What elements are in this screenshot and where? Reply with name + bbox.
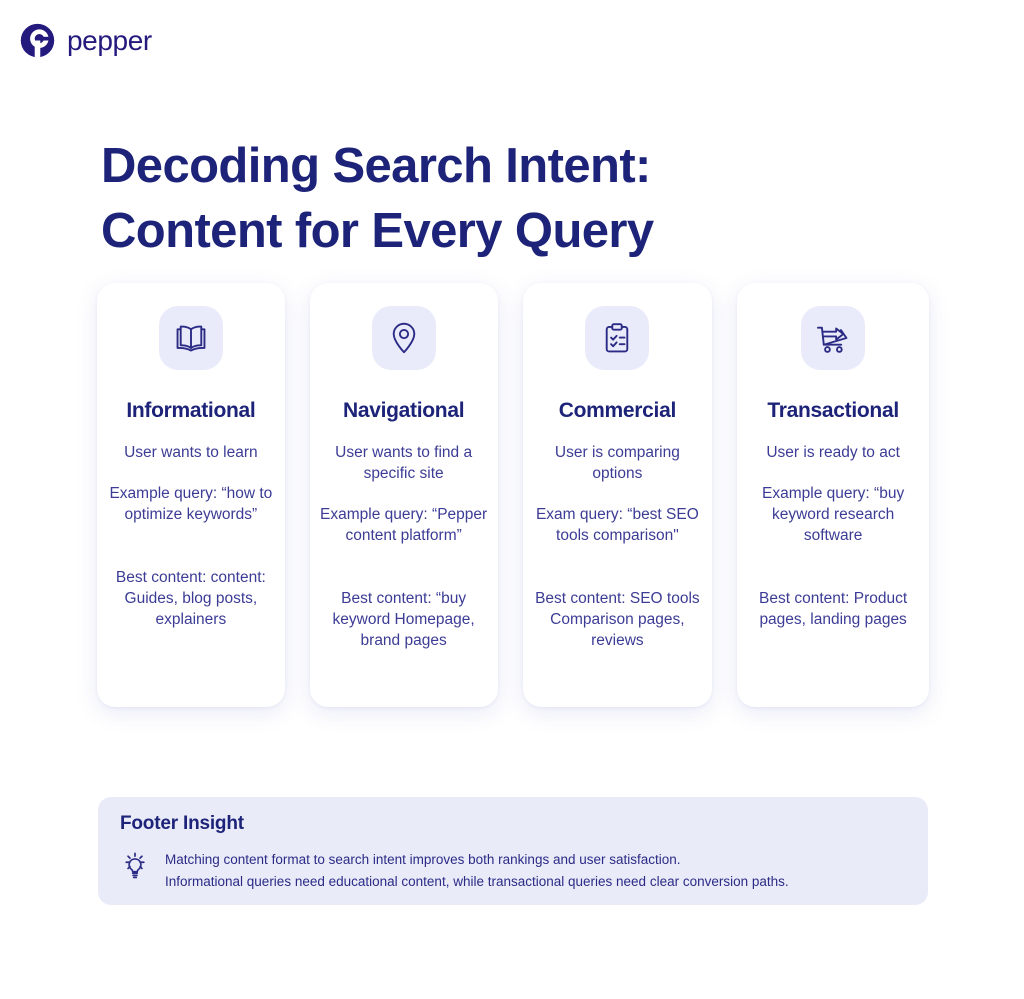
brand-name: pepper [67, 27, 152, 55]
page-title-line-1: Decoding Search Intent: [101, 134, 801, 199]
card-best-content: Best content: content: Guides, blog post… [107, 568, 275, 631]
footer-line-2: Informational queries need educational c… [165, 871, 789, 893]
card-example-query: Example query: “buy keyword research sof… [747, 484, 919, 547]
intent-card-commercial[interactable]: Commercial User is comparing options Exa… [523, 283, 713, 707]
intent-card-transactional[interactable]: Transactional User is ready to act Examp… [737, 283, 929, 707]
intent-card-informational[interactable]: Informational User wants to learn Exampl… [97, 283, 285, 707]
intent-cards-row: Informational User wants to learn Exampl… [97, 283, 929, 707]
open-book-icon [172, 319, 210, 357]
card-example-query: Example query: “Pepper content platform” [320, 505, 488, 547]
card-description: User wants to find a specific site [320, 443, 488, 485]
map-pin-icon [385, 319, 423, 357]
icon-badge [159, 306, 223, 370]
lightbulb-icon [120, 849, 150, 881]
icon-badge [372, 306, 436, 370]
intent-card-navigational[interactable]: Navigational User wants to find a specif… [310, 283, 498, 707]
page-title: Decoding Search Intent: Content for Ever… [101, 134, 801, 264]
card-example-query: Example query: “how to optimize keywords… [107, 484, 275, 526]
clipboard-checklist-icon [598, 319, 636, 357]
icon-badge [585, 306, 649, 370]
footer-body: Matching content format to search intent… [120, 849, 906, 893]
icon-badge [801, 306, 865, 370]
shopping-cart-arrow-icon [814, 319, 852, 357]
card-best-content: Best content: “buy keyword Homepage, bra… [320, 589, 488, 652]
footer-title: Footer Insight [120, 813, 906, 835]
card-best-content: Best content: SEO tools Comparison pages… [533, 589, 703, 652]
footer-text: Matching content format to search intent… [165, 849, 789, 893]
card-description: User is comparing options [533, 443, 703, 485]
brand-logo[interactable]: pepper [19, 22, 152, 59]
card-description: User wants to learn [107, 443, 275, 464]
card-example-query: Exam query: “best SEO tools comparison" [533, 505, 703, 547]
footer-insight-panel: Footer Insight Matching content format t… [98, 797, 928, 905]
card-title: Navigational [343, 398, 464, 423]
card-description: User is ready to act [747, 443, 919, 464]
pepper-circle-logo-icon [19, 22, 56, 59]
card-title: Informational [126, 398, 255, 423]
card-best-content: Best content: Product pages, landing pag… [747, 589, 919, 631]
card-title: Transactional [767, 398, 898, 423]
footer-line-1: Matching content format to search intent… [165, 849, 789, 871]
page-title-line-2: Content for Every Query [101, 199, 801, 264]
card-title: Commercial [559, 398, 676, 423]
